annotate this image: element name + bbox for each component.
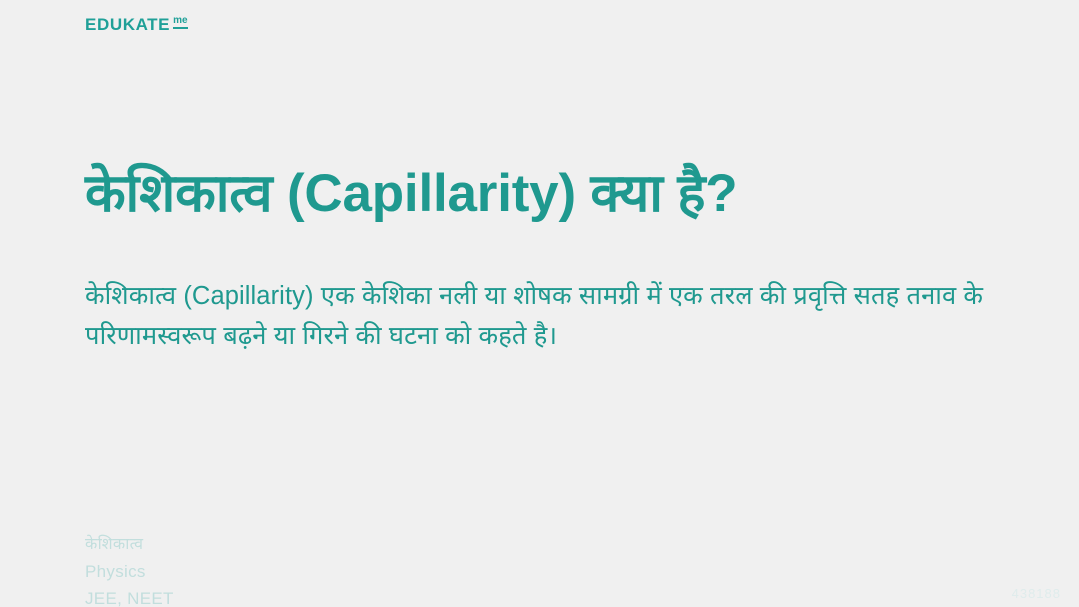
brand-logo-suffix: me bbox=[173, 16, 187, 29]
footer-subject: Physics bbox=[85, 558, 174, 585]
brand-logo-wordmark: EDUKATE bbox=[85, 16, 170, 33]
slide-footer-meta: केशिकात्व Physics JEE, NEET bbox=[85, 531, 174, 607]
slide-body-text: केशिकात्व (Capillarity) एक केशिका नली या… bbox=[85, 276, 985, 356]
footer-topic: केशिकात्व bbox=[85, 531, 174, 558]
brand-logo[interactable]: EDUKATE me bbox=[85, 16, 188, 33]
slide-title: केशिकात्व (Capillarity) क्या है? bbox=[85, 162, 1015, 227]
footer-exams: JEE, NEET bbox=[85, 585, 174, 607]
slide-watermark-id: 438188 bbox=[1012, 586, 1061, 601]
slide-canvas: EDUKATE me केशिकात्व (Capillarity) क्या … bbox=[0, 0, 1079, 607]
